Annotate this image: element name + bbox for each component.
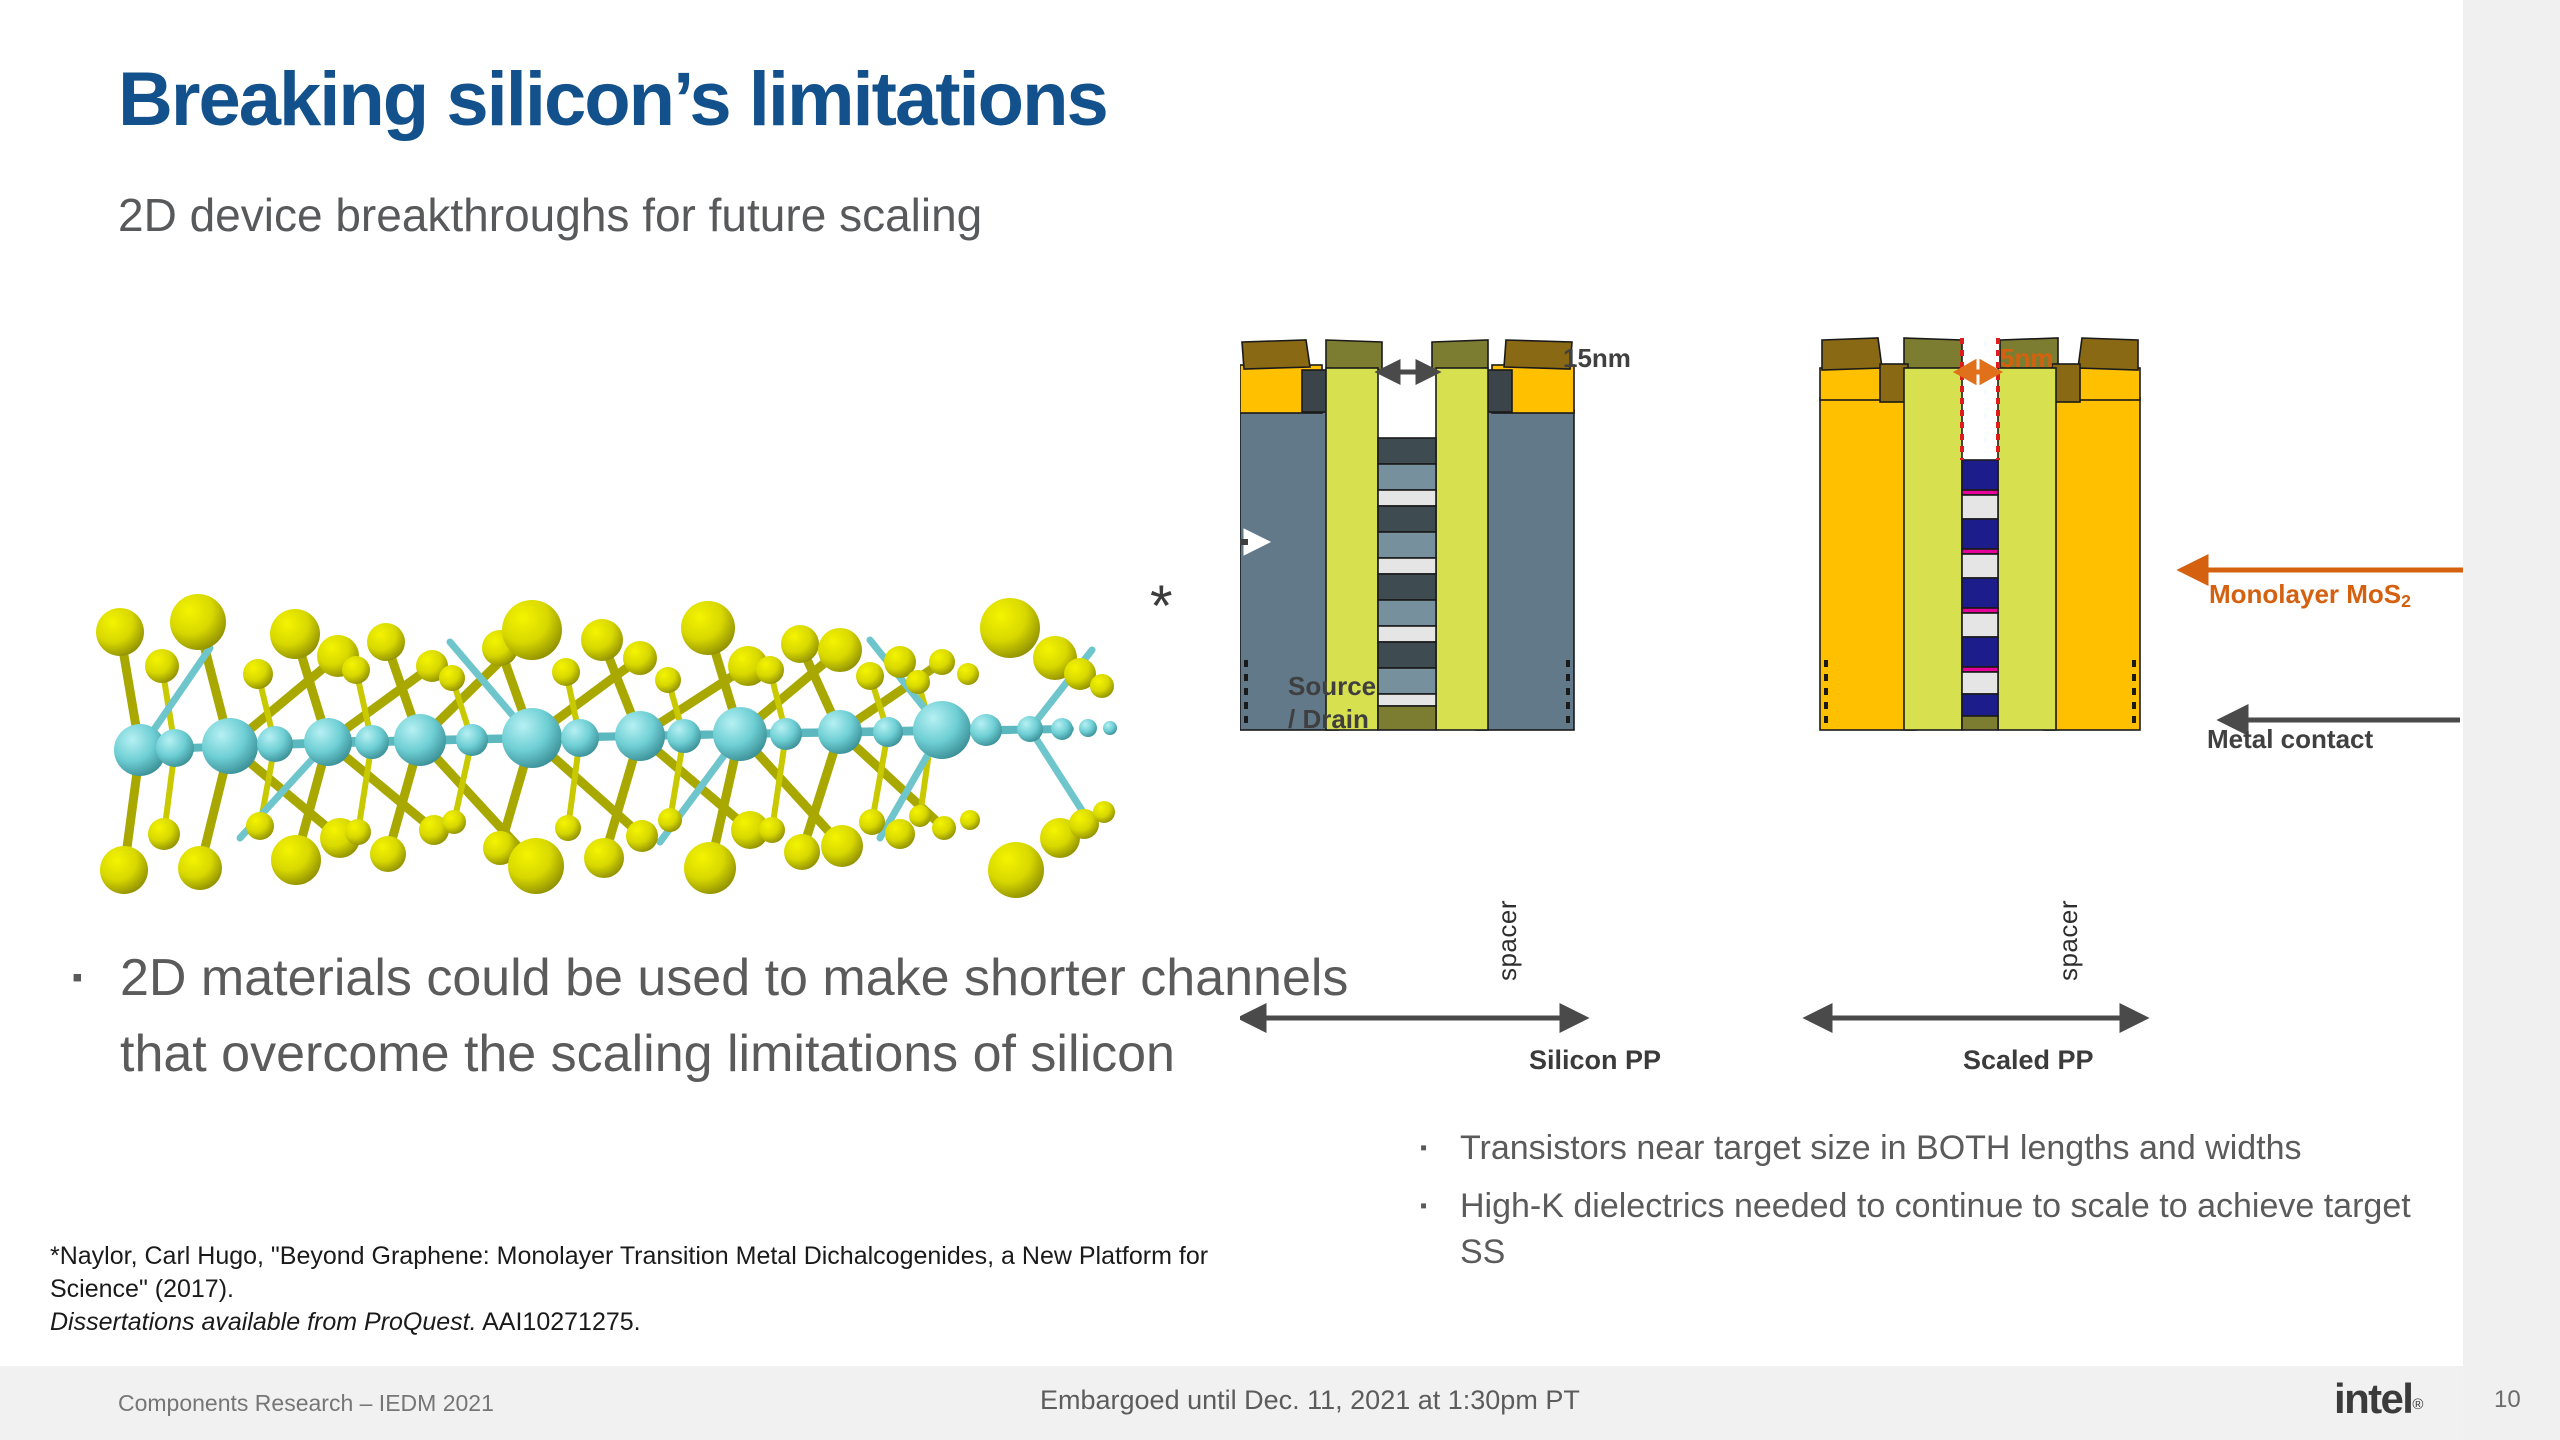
page-subtitle: 2D device breakthroughs for future scali… [118,192,982,238]
spacer-label-left: spacer [1492,900,1523,981]
bullet-text: Transistors near target size in BOTH len… [1460,1125,2302,1171]
right-gutter [2463,0,2560,1440]
callout-source-drain-line2: / Drain [1288,703,1376,736]
callout-source-drain: Source / Drain [1288,670,1376,737]
footnote-asterisk-marker: * [1150,578,1173,636]
callout-monolayer-mos2-text: Monolayer MoS [2209,579,2401,609]
slide-page-number: 10 [2494,1388,2521,1412]
spacer-label-right: spacer [2053,900,2084,981]
dimension-label-5nm: 5nm [2000,345,2053,371]
callout-monolayer-mos2: Monolayer MoS2 [2209,578,2411,613]
footnote-line-1: *Naylor, Carl Hugo, "Beyond Graphene: Mo… [50,1240,1450,1273]
device-label-silicon-pp: Silicon PP [1529,1047,1661,1074]
footnote-source-id: AAI10271275. [477,1308,641,1336]
callout-metal-contact: Metal contact [2207,723,2373,756]
footnote-line-3: Dissertations available from ProQuest. A… [50,1306,1450,1339]
left-bullet-list: ▪ 2D materials could be used to make sho… [60,940,1360,1098]
bullet-marker-icon: ▪ [60,940,120,1016]
intel-logo: intel® [2334,1378,2423,1420]
registered-trademark-icon: ® [2412,1396,2423,1413]
slide-canvas: Breaking silicon’s limitations 2D device… [0,0,2463,1440]
list-item: ▪ 2D materials could be used to make sho… [60,940,1360,1092]
callout-monolayer-mos2-subscript: 2 [2401,591,2411,611]
footer-embargo-notice: Embargoed until Dec. 11, 2021 at 1:30pm … [1040,1385,1580,1416]
list-item: ▪ Transistors near target size in BOTH l… [1410,1125,2430,1171]
footer-deck-label: Components Research – IEDM 2021 [118,1390,494,1417]
footnote-citation: *Naylor, Carl Hugo, "Beyond Graphene: Mo… [50,1240,1450,1339]
bullet-marker-icon: ▪ [1410,1183,1460,1229]
bullet-text: High-K dielectrics needed to continue to… [1460,1183,2430,1275]
dimension-label-15nm: 15nm [1563,345,1631,371]
right-bullet-list: ▪ Transistors near target size in BOTH l… [1410,1125,2430,1287]
footnote-line-2: Science" (2017). [50,1273,1450,1306]
callout-source-drain-line1: Source [1288,670,1376,703]
page-title: Breaking silicon’s limitations [118,62,1107,138]
bullet-marker-icon: ▪ [1410,1125,1460,1171]
bullet-text: 2D materials could be used to make short… [120,940,1360,1092]
intel-logo-text: intel [2334,1375,2412,1422]
device-label-scaled-pp: Scaled PP [1963,1047,2094,1074]
transistor-cross-section-diagram [1240,320,2470,1060]
footnote-source-italic: Dissertations available from ProQuest. [50,1308,477,1336]
mos2-molecule-image [80,570,1200,900]
list-item: ▪ High-K dielectrics needed to continue … [1410,1183,2430,1275]
